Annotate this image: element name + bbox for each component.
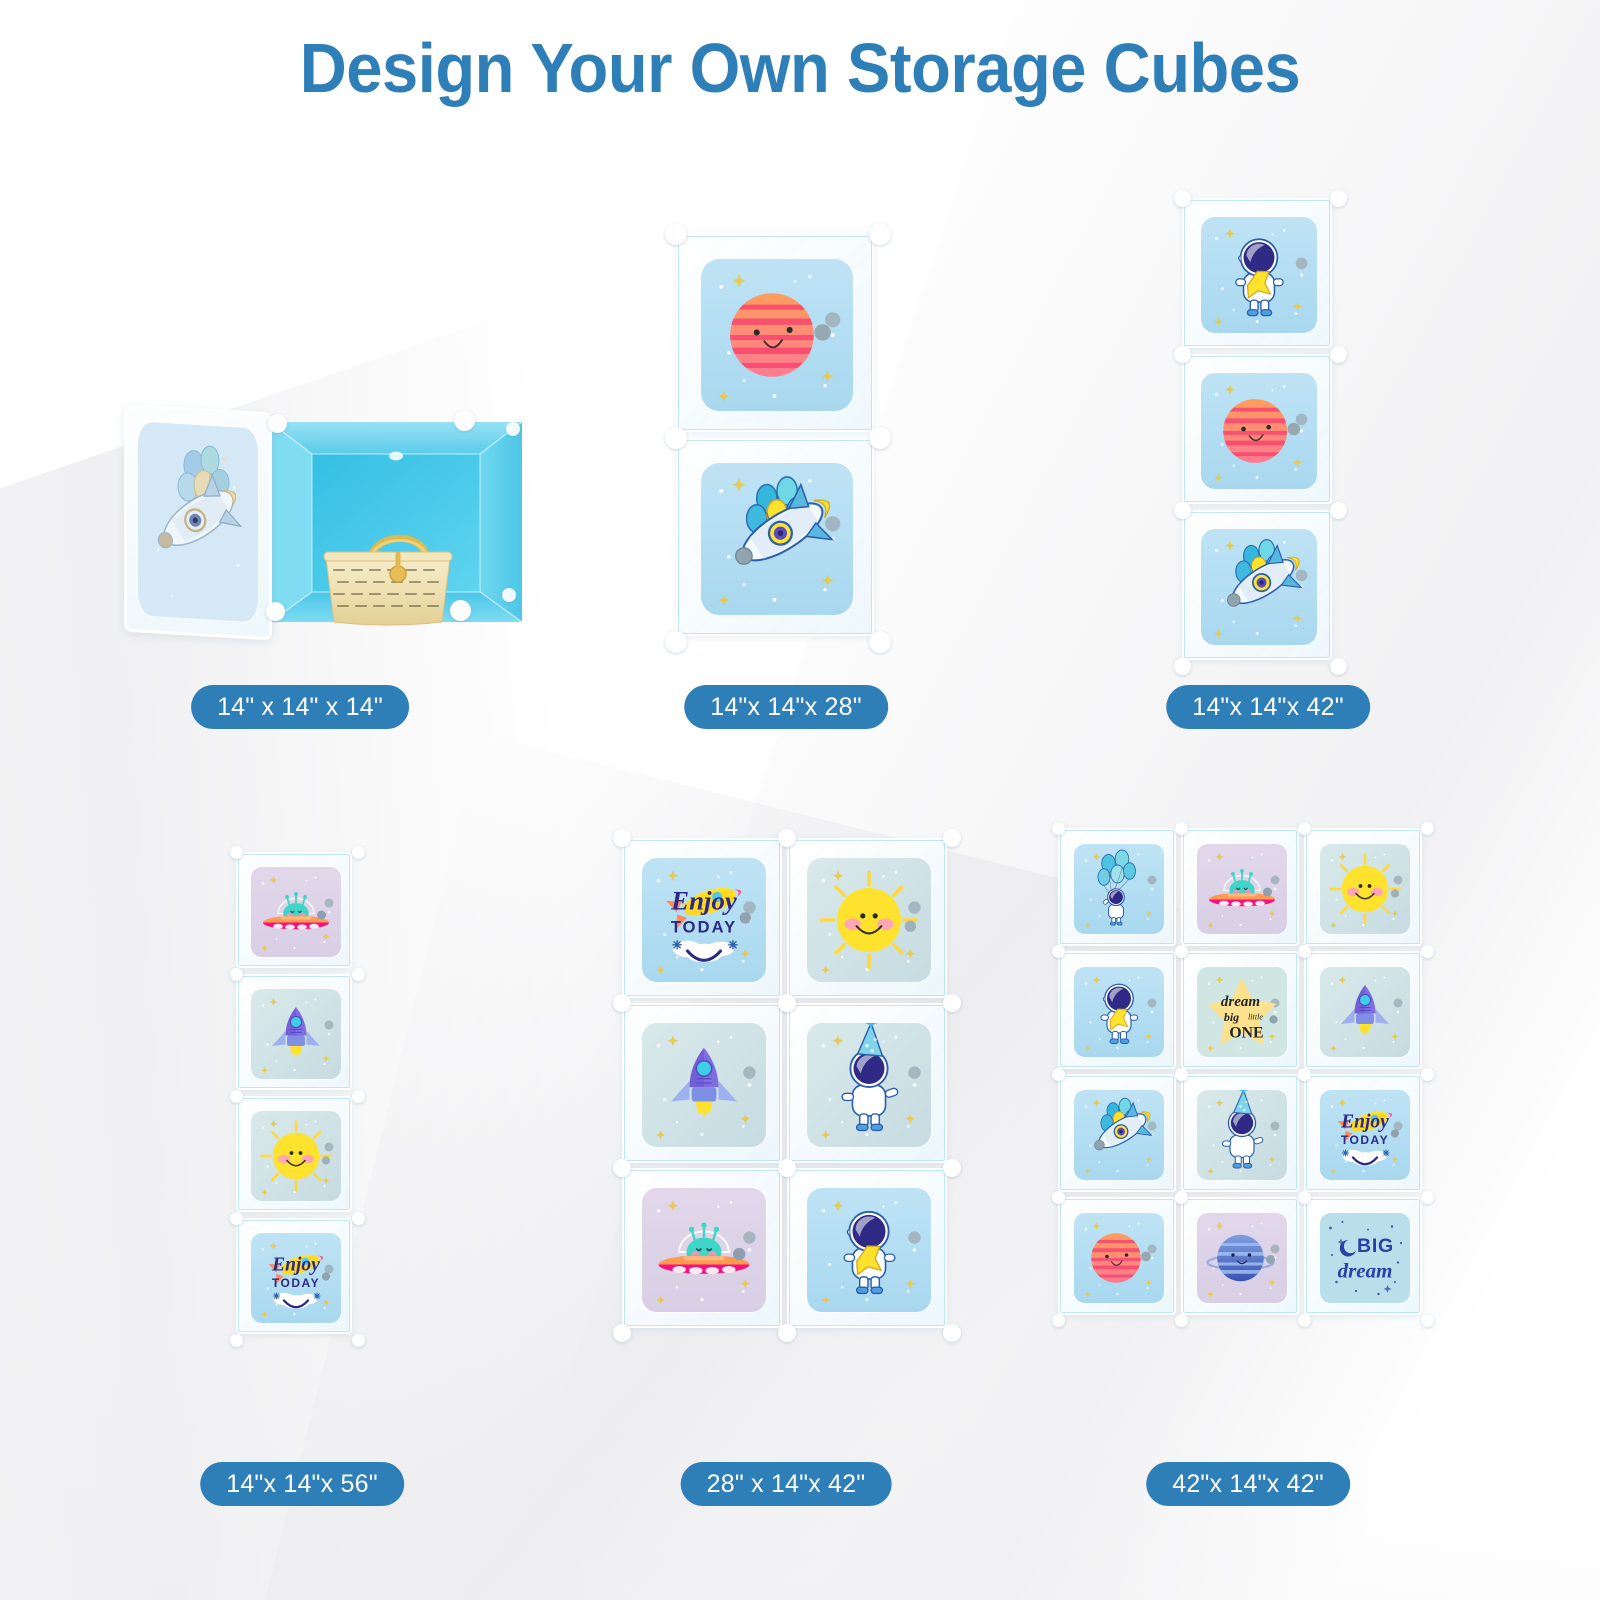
panel-dream-big-little-one [1197,967,1287,1057]
cube-connector-node [1421,1191,1434,1204]
storage-cube [1181,1197,1299,1315]
cube-connector-node [665,631,687,653]
background-band [423,0,1600,1600]
product-cube-2x1x3 [622,838,947,1328]
panel-rocket-balloons [701,463,853,615]
size-label-1x1x2: 14"x 14"x 28" [684,685,888,729]
cube-connector-node [1174,190,1191,207]
cube-connector-node [1298,1191,1311,1204]
storage-cube [236,1096,352,1212]
cube-connector-node [230,846,243,859]
cube-connector-node [1330,658,1347,675]
cube-connector-node [1175,822,1188,835]
cube-connector-node [1052,1314,1065,1327]
panel-enjoy-today [1320,1090,1410,1180]
cube-connector-node [1298,945,1311,958]
cube-connector-node [943,1159,961,1177]
panel-planet-orange [1201,373,1317,489]
storage-cube [1058,1074,1176,1192]
panel-planet-orange [1074,1213,1164,1303]
cube-connector-node [454,410,475,431]
infographic-page: Design Your Own Storage Cubes [0,0,1600,1600]
cube-connector-node [613,994,631,1012]
cube-connector-node [1174,502,1191,519]
storage-cube [676,234,874,432]
panel-big-dream [1320,1213,1410,1303]
storage-cube [622,838,782,998]
panel-planet-orange [701,259,853,411]
storage-cube [1304,951,1422,1069]
cube-connector-node [1330,190,1347,207]
storage-cube [787,1003,947,1163]
panel-astronaut-party-hat [807,1023,931,1147]
storage-cube [787,1168,947,1328]
panel-sun-smile [251,1111,341,1201]
woven-basket [314,524,462,629]
product-cube-3x1x3 [1058,828,1422,1315]
cube-connector-node [352,1090,365,1103]
panel-rocket-purple [1320,967,1410,1057]
cube-connector-node [502,588,516,602]
cube-connector-node [1330,502,1347,519]
storage-cube [1304,1197,1422,1315]
cube-connector-node [1298,1068,1311,1081]
cube-connector-node [1421,1314,1434,1327]
product-cube-1x1x3 [1182,198,1332,660]
cube-connector-node [1298,822,1311,835]
cube-connector-node [665,223,687,245]
panel-rocket-balloons-pastel [138,421,258,622]
cube-connector-node [1421,945,1434,958]
cube-connector-node [352,1334,365,1347]
storage-cube [1058,951,1176,1069]
storage-cube [1182,510,1332,660]
storage-cube [1304,1074,1422,1192]
panel-astronaut-star [1074,967,1164,1057]
cube-connector-node [352,968,365,981]
cube-connector-node [1175,1068,1188,1081]
cube-connector-node [778,829,796,847]
panel-planet-blue [1197,1213,1287,1303]
storage-cube [236,1218,352,1334]
product-cube-1x1x4 [236,852,352,1334]
cube-connector-node [1330,346,1347,363]
cube-connector-node [665,427,687,449]
cube-connector-node [230,968,243,981]
panel-astronaut-star [807,1188,931,1312]
cube-connector-node [1052,822,1065,835]
cube-connector-node [778,994,796,1012]
panel-ufo-alien [1197,844,1287,934]
cube-connector-node [268,414,287,433]
cube-connector-node [230,1334,243,1347]
cube-connector-node [943,829,961,847]
cube-connector-node [506,422,520,436]
size-label-1x1x3: 14"x 14"x 42" [1166,685,1370,729]
size-label-1x1x4: 14"x 14"x 56" [200,1462,404,1506]
size-label-2x1x3: 28" x 14"x 42" [681,1462,892,1506]
cube-connector-node [1052,1191,1065,1204]
cube-connector-node [943,1324,961,1342]
cube-connector-node [1052,1068,1065,1081]
panel-ufo-alien [642,1188,766,1312]
cube-connector-node [1298,1314,1311,1327]
storage-cube [676,438,874,636]
cube-connector-node [352,846,365,859]
storage-cube [1182,354,1332,504]
cube-connector-node [869,631,891,653]
panel-rocket-purple [251,989,341,1079]
panel-sun-smile [807,858,931,982]
cube-door-panel [124,404,272,641]
cube-connector-node [1421,822,1434,835]
panel-astronaut-party-hat [1197,1090,1287,1180]
cube-connector-node [230,1212,243,1225]
product-cube-1x1x2 [676,234,874,636]
storage-cube [1181,1074,1299,1192]
storage-cube [787,838,947,998]
cube-connector-node [450,600,471,621]
cube-connector-node [230,1090,243,1103]
cube-connector-node [1175,1191,1188,1204]
cube-connector-node [1174,658,1191,675]
cube-connector-node [869,223,891,245]
panel-astronaut-star [1201,217,1317,333]
panel-enjoy-today [251,1233,341,1323]
cube-connector-node [1052,945,1065,958]
storage-cube [622,1168,782,1328]
panel-astronaut-balloons [1074,844,1164,934]
storage-cube [1181,828,1299,946]
panel-rocket-balloons [1201,529,1317,645]
panel-rocket-purple [642,1023,766,1147]
cube-connector-node [869,427,891,449]
storage-cube [1182,198,1332,348]
cube-connector-node [1421,1068,1434,1081]
panel-enjoy-today [642,858,766,982]
panel-rocket-balloons [1074,1090,1164,1180]
cube-connector-node [778,1324,796,1342]
cube-connector-node [613,1324,631,1342]
size-label-3x1x3: 42"x 14"x 42" [1146,1462,1350,1506]
cube-connector-node [352,1212,365,1225]
cube-connector-node [778,1159,796,1177]
storage-cube [1181,951,1299,1069]
storage-cube [236,852,352,968]
storage-cube [1058,1197,1176,1315]
cube-connector-node [1174,346,1191,363]
size-label-1x1x1: 14" x 14" x 14" [191,685,409,729]
panel-sun-smile [1320,844,1410,934]
storage-cube [622,1003,782,1163]
product-cube-1x1x1 [118,400,518,650]
storage-cube [1058,828,1176,946]
cube-connector-node [1175,945,1188,958]
cube-connector-node [613,829,631,847]
storage-cube [236,974,352,1090]
cube-connector-node [1175,1314,1188,1327]
page-title: Design Your Own Storage Cubes [56,28,1544,108]
cube-connector-node [613,1159,631,1177]
cube-connector-node [266,602,285,621]
storage-cube [1304,828,1422,946]
cube-connector-node [943,994,961,1012]
panel-ufo-alien [251,867,341,957]
